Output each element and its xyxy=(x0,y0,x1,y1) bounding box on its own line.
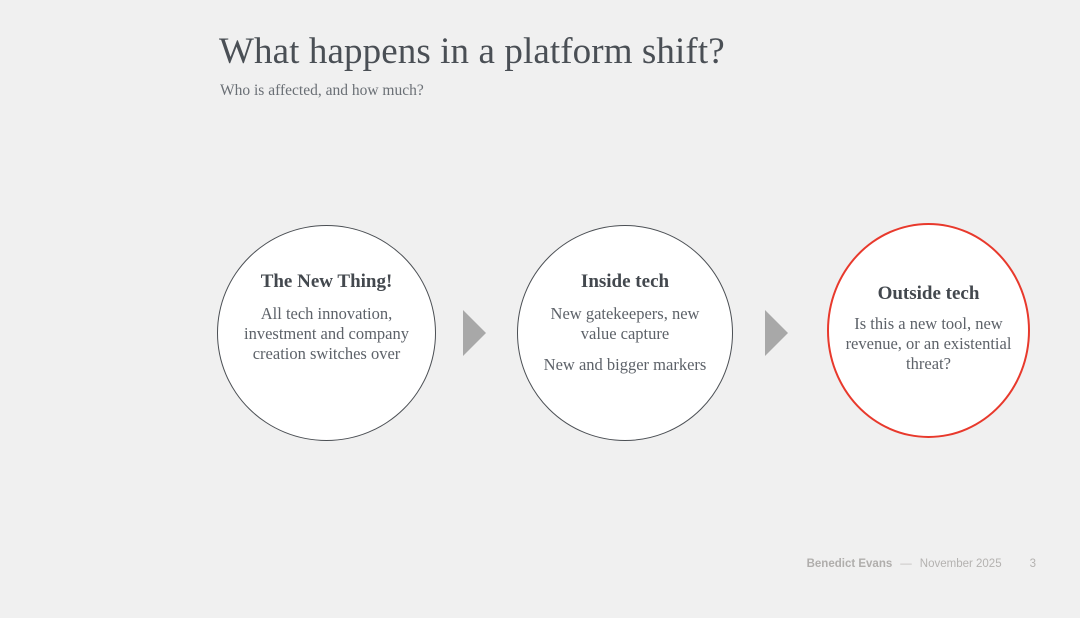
footer-separator: — xyxy=(900,558,912,570)
node-body-text: Is this a new tool, new revenue, or an e… xyxy=(843,314,1015,374)
footer-page-number: 3 xyxy=(1030,558,1036,570)
slide-footer: Benedict Evans — November 2025 3 xyxy=(0,558,1080,578)
node-body-text: New gatekeepers, new value capture xyxy=(536,304,714,344)
diagram-node-outside-tech: Outside tech Is this a new tool, new rev… xyxy=(827,223,1030,438)
footer-author: Benedict Evans xyxy=(807,558,893,570)
node-heading: Outside tech xyxy=(878,283,980,306)
node-heading: The New Thing! xyxy=(261,271,393,294)
footer-date: November 2025 xyxy=(920,558,1002,570)
triangle-right-icon xyxy=(765,310,788,356)
diagram-node-new-thing: The New Thing! All tech innovation, inve… xyxy=(217,225,436,441)
triangle-right-icon xyxy=(463,310,486,356)
process-flow-diagram: The New Thing! All tech innovation, inve… xyxy=(0,0,1080,618)
node-body-text: All tech innovation, investment and comp… xyxy=(239,304,414,364)
footer-content: Benedict Evans — November 2025 3 xyxy=(807,558,1036,570)
slide: What happens in a platform shift? Who is… xyxy=(0,0,1080,618)
node-heading: Inside tech xyxy=(581,271,669,294)
diagram-node-inside-tech: Inside tech New gatekeepers, new value c… xyxy=(517,225,733,441)
node-body-text: New and bigger markers xyxy=(536,355,714,375)
